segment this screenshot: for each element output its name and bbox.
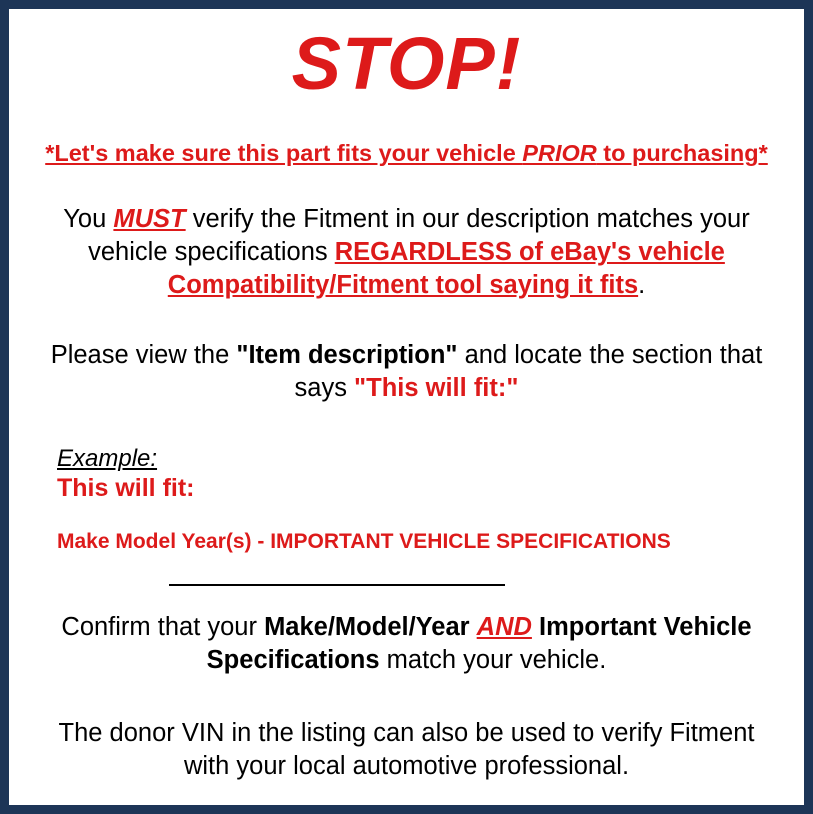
section-divider <box>169 584 505 586</box>
example-fit-heading: This will fit: <box>57 473 790 503</box>
make-model-year-emphasis: Make/Model/Year <box>264 613 470 641</box>
tagline-tail: to purchasing* <box>597 140 768 166</box>
confirm-text-1: Confirm that your <box>61 613 264 641</box>
confirm-space-b <box>532 613 539 641</box>
example-specification-line: Make Model Year(s) - IMPORTANT VEHICLE S… <box>57 529 790 554</box>
verify-text-3: . <box>638 271 645 299</box>
this-will-fit-emphasis: "This will fit:" <box>354 374 518 402</box>
stop-heading: STOP! <box>23 27 790 101</box>
divider-wrap <box>23 577 790 591</box>
tagline-prior-emphasis: PRIOR <box>522 140 596 166</box>
example-label: Example: <box>57 445 790 473</box>
verify-fitment-paragraph: You MUST verify the Fitment in our descr… <box>23 203 790 302</box>
and-emphasis: AND <box>477 613 532 641</box>
tagline-lead: *Let's make sure this part fits your veh… <box>45 140 522 166</box>
verify-text-1: You <box>63 205 113 233</box>
confirm-space-a <box>470 613 477 641</box>
confirm-paragraph: Confirm that your Make/Model/Year AND Im… <box>23 611 790 677</box>
example-block: Example: This will fit: Make Model Year(… <box>23 445 790 555</box>
view-description-paragraph: Please view the "Item description" and l… <box>23 339 790 405</box>
must-emphasis: MUST <box>113 205 185 233</box>
fitment-notice-card: STOP! *Let's make sure this part fits yo… <box>0 0 813 814</box>
donor-vin-paragraph: The donor VIN in the listing can also be… <box>23 717 790 783</box>
confirm-text-2: match your vehicle. <box>380 646 607 674</box>
view-text-1: Please view the <box>51 341 237 369</box>
item-description-emphasis: "Item description" <box>236 341 457 369</box>
notice-content: STOP! *Let's make sure this part fits yo… <box>9 9 804 805</box>
tagline-banner: *Let's make sure this part fits your veh… <box>23 139 790 167</box>
